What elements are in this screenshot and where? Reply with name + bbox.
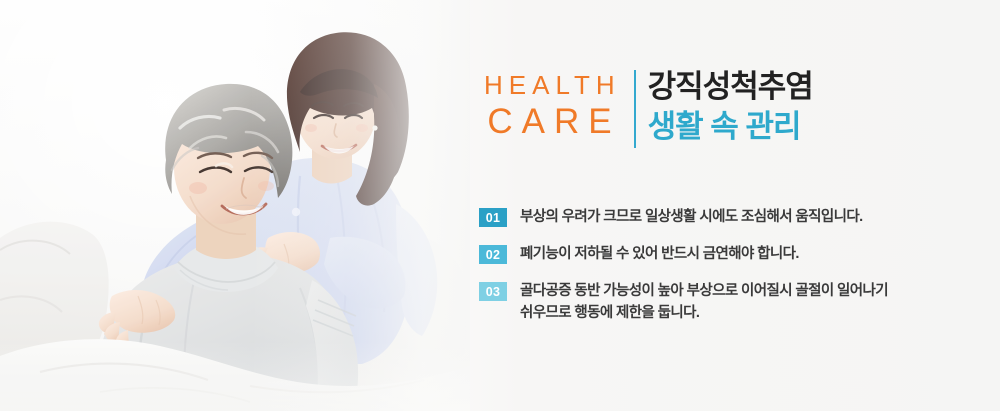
list-item: 02 폐기능이 저하될 수 있어 반드시 금연해야 합니다. <box>479 243 979 265</box>
caregiver-photo <box>0 0 470 411</box>
note-text-03-line2: 쉬우므로 행동에 제한을 둡니다. <box>520 302 888 324</box>
note-text-01-line1: 부상의 우려가 크므로 일상생활 시에도 조심해서 움직입니다. <box>520 209 863 225</box>
note-text-02: 폐기능이 저하될 수 있어 반드시 금연해야 합니다. <box>507 243 799 265</box>
note-text-02-line1: 폐기능이 저하될 수 있어 반드시 금연해야 합니다. <box>520 246 799 262</box>
headline-english: HEALTH CARE <box>478 68 634 142</box>
caregiver-photo-illustration <box>0 0 470 411</box>
note-badge-01: 01 <box>479 208 507 227</box>
note-text-03-line1: 골다공증 동반 가능성이 높아 부상으로 이어질시 골절이 일어나기 <box>520 283 888 299</box>
note-badge-03: 03 <box>479 282 507 301</box>
headline-health-text: HEALTH <box>478 70 621 100</box>
health-care-banner: HEALTH CARE 강직성척추염 생활 속 관리 01 부상의 우려가 크므… <box>0 0 1000 411</box>
notes-list: 01 부상의 우려가 크므로 일상생활 시에도 조심해서 움직입니다. 02 폐… <box>479 206 979 324</box>
note-text-01: 부상의 우려가 크므로 일상생활 시에도 조심해서 움직입니다. <box>507 206 863 228</box>
headline-korean-line1: 강직성척추염 <box>648 68 813 105</box>
headline-korean: 강직성척추염 생활 속 관리 <box>636 68 813 146</box>
headline-korean-line2: 생활 속 관리 <box>648 108 813 146</box>
note-text-03: 골다공증 동반 가능성이 높아 부상으로 이어질시 골절이 일어나기 쉬우므로 … <box>507 280 888 324</box>
list-item: 01 부상의 우려가 크므로 일상생활 시에도 조심해서 움직입니다. <box>479 206 979 228</box>
list-item: 03 골다공증 동반 가능성이 높아 부상으로 이어질시 골절이 일어나기 쉬우… <box>479 280 979 324</box>
headline-care-text: CARE <box>478 102 620 142</box>
headline: HEALTH CARE 강직성척추염 생활 속 관리 <box>478 68 813 148</box>
note-badge-02: 02 <box>479 245 507 264</box>
